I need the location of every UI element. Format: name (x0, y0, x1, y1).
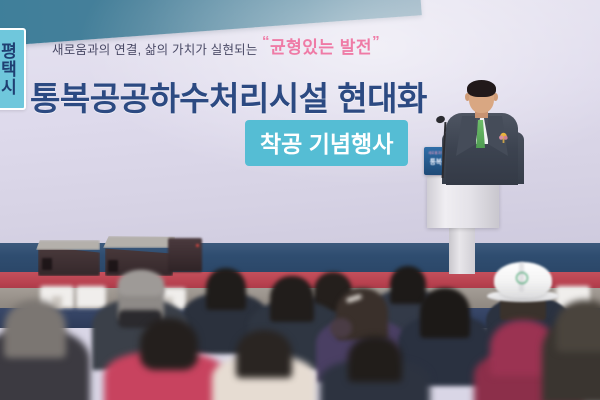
hard-hat-logo-icon (516, 272, 528, 284)
audience-head-curly (140, 318, 198, 370)
audience-head (206, 268, 246, 310)
quote-close-mark: ” (372, 33, 380, 50)
audience-head (556, 300, 600, 352)
quote-text: 균형있는 발전 (270, 38, 372, 57)
speaker-hair (467, 80, 496, 97)
white-chair (76, 286, 106, 308)
stage-monitor-left-grill (42, 258, 52, 270)
audience-head (390, 266, 426, 304)
city-name-label: 평택시 (0, 42, 16, 96)
stage-amplifier-box (168, 238, 202, 272)
stage-monitor-left-top (36, 240, 100, 250)
banner-event-badge: 착공 기념행사 (245, 120, 408, 166)
banner-quote: “균형있는 발전” (262, 33, 380, 58)
hair-bun (330, 318, 352, 338)
audience-head (348, 336, 402, 382)
banner-main-title: 통복공공하수처리시설 현대화 (30, 72, 427, 120)
audience-head (420, 288, 470, 338)
amplifier-led (196, 244, 199, 247)
audience-head (236, 330, 292, 378)
stage-monitor-right-top (103, 236, 175, 248)
audience-hair-gray (118, 270, 164, 296)
boutonniere-icon (497, 131, 510, 144)
audience-head-gray (4, 300, 66, 358)
stage-monitor-right-grill (108, 260, 118, 272)
city-name-tab: 평택시 (0, 28, 26, 110)
audience-head (270, 276, 314, 322)
podium-stem (449, 222, 475, 274)
photograph-canvas: 평택시 새로움과의 연결, 삶의 가치가 실현되는 “균형있는 발전” 통복공공… (0, 0, 600, 400)
banner-subtitle-text: 새로움과의 연결, 삶의 가치가 실현되는 (52, 43, 258, 57)
quote-open-mark: “ (262, 33, 270, 50)
